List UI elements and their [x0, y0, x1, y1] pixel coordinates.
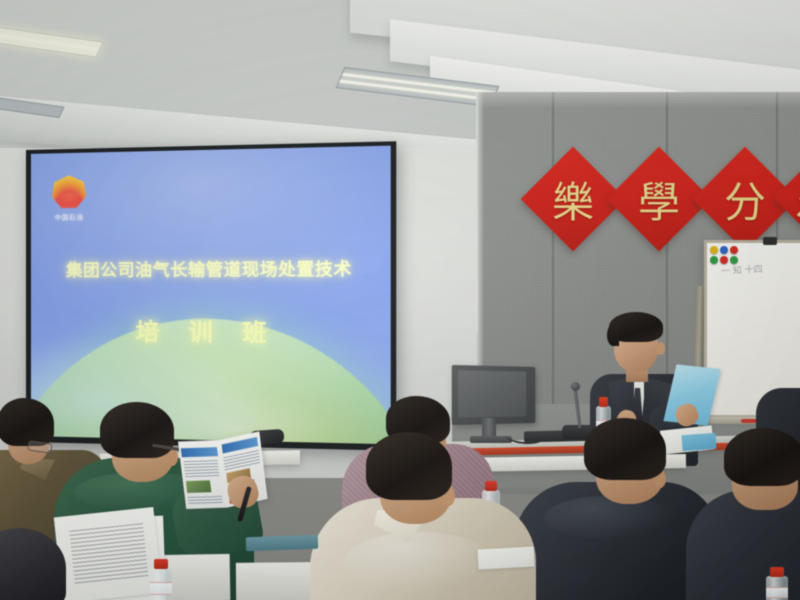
banner-character: 乐 — [786, 168, 800, 228]
attendee-hair — [0, 528, 66, 600]
logo-caption: 中国石油 — [48, 211, 90, 222]
attendee-shoulder-highlight — [544, 496, 674, 540]
magnet-icon — [730, 246, 738, 254]
sun-logo-icon — [52, 175, 86, 210]
bottle-body — [150, 568, 172, 600]
attendee-dark-suit-right — [706, 428, 800, 600]
classroom-photograph: 中国石油 集团公司油气长输管道现场处置技术 培 训 班 樂 學 分 乐 一 知 … — [0, 0, 800, 600]
brochure-text-lines — [188, 496, 223, 505]
microphone-icon — [571, 382, 580, 391]
magnet-icon — [730, 256, 738, 264]
petrochina-sun-logo: 中国石油 — [48, 175, 90, 222]
magnet-icon — [720, 246, 728, 254]
bottle-cap — [599, 397, 609, 407]
banner-character: 分 — [708, 162, 782, 236]
attendee-hair — [584, 418, 666, 480]
whiteboard-magnets — [709, 245, 743, 265]
attendee-cream-jacket — [320, 432, 550, 600]
mouse-pad — [246, 535, 318, 552]
whiteboard-writing: 一 知 十四 — [721, 264, 763, 280]
attendee-hair — [366, 432, 452, 500]
bottle-label — [150, 582, 172, 595]
slide-subtitle: 培 训 班 — [31, 312, 391, 349]
bottle-body — [766, 576, 788, 600]
magnet-icon — [720, 256, 728, 264]
attendee-hair — [100, 402, 174, 458]
bottle-cap — [154, 559, 168, 569]
attendee-shoulder-highlight — [344, 532, 494, 592]
water-bottle — [766, 576, 788, 600]
whiteboard-clip — [763, 237, 777, 245]
brochure-header-band — [181, 447, 217, 457]
presenter-hair — [609, 312, 663, 342]
banner-character: 樂 — [536, 162, 610, 236]
water-bottle — [150, 568, 172, 600]
brochure-text-lines — [224, 450, 260, 471]
paper-handouts — [478, 547, 535, 570]
slide-title: 集团公司油气长输管道现场处置技术 — [31, 255, 391, 281]
magnet-icon — [710, 246, 718, 254]
bottle-cap — [770, 567, 784, 577]
attendee-foreground-partial — [0, 528, 84, 600]
brochure-photo — [186, 480, 212, 493]
magnet-icon — [710, 256, 718, 264]
attendee-hair — [724, 428, 800, 486]
banner-character: 學 — [622, 162, 696, 236]
brochure-text-lines — [184, 460, 220, 477]
bottle-label — [766, 587, 788, 597]
wall-highlight — [476, 92, 800, 108]
attendee-hair — [0, 398, 54, 446]
presenter-ear — [656, 342, 665, 355]
ceiling-light-icon — [0, 23, 104, 57]
